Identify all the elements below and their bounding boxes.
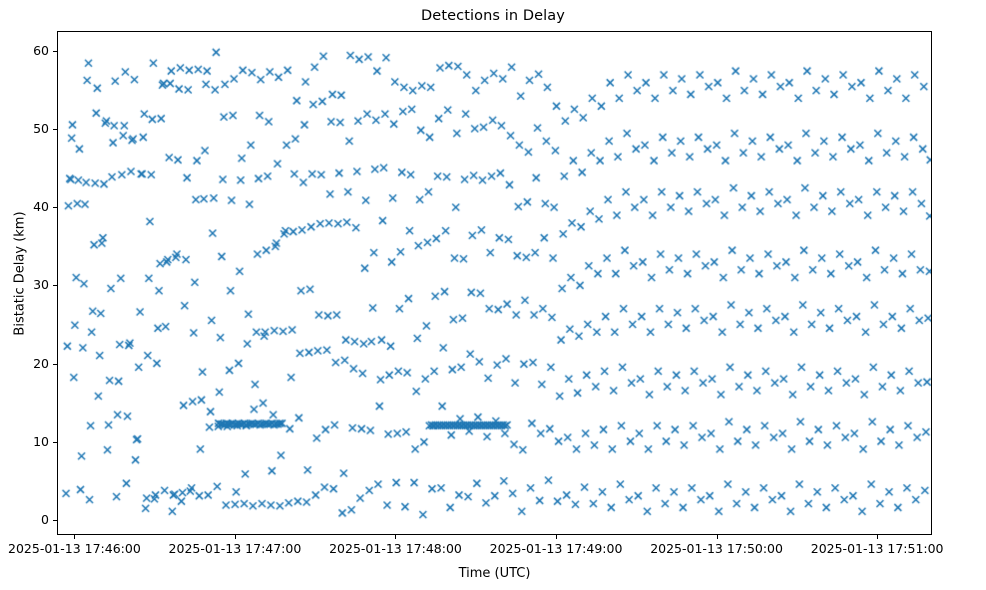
x-tick-label: 2025-01-13 17:49:00 [476,541,636,556]
y-tick-mark [53,364,57,365]
figure: Detections in Delay 0102030405060 2025-0… [0,0,986,590]
y-tick-mark [53,207,57,208]
y-tick-mark [53,285,57,286]
x-tick-mark [74,535,75,539]
y-tick-label: 50 [0,121,49,136]
x-tick-mark [235,535,236,539]
y-tick-mark [53,51,57,52]
x-tick-label: 2025-01-13 17:50:00 [637,541,797,556]
x-tick-label: 2025-01-13 17:48:00 [315,541,475,556]
x-tick-label: 2025-01-13 17:51:00 [797,541,957,556]
chart-title: Detections in Delay [0,8,986,24]
plot-axes [57,31,932,535]
x-axis-label: Time (UTC) [57,566,932,581]
x-tick-mark [556,535,557,539]
x-tick-label: 2025-01-13 17:47:00 [155,541,315,556]
scatter-plot-canvas [58,32,931,534]
x-tick-mark [395,535,396,539]
y-tick-label: 0 [0,512,49,527]
y-axis-label: Bistatic Delay (km) [13,164,28,384]
x-tick-label: 2025-01-13 17:46:00 [0,541,154,556]
x-tick-mark [717,535,718,539]
y-tick-label: 60 [0,43,49,58]
y-tick-mark [53,129,57,130]
y-tick-mark [53,442,57,443]
y-tick-label: 10 [0,434,49,449]
y-tick-mark [53,520,57,521]
x-tick-mark [877,535,878,539]
